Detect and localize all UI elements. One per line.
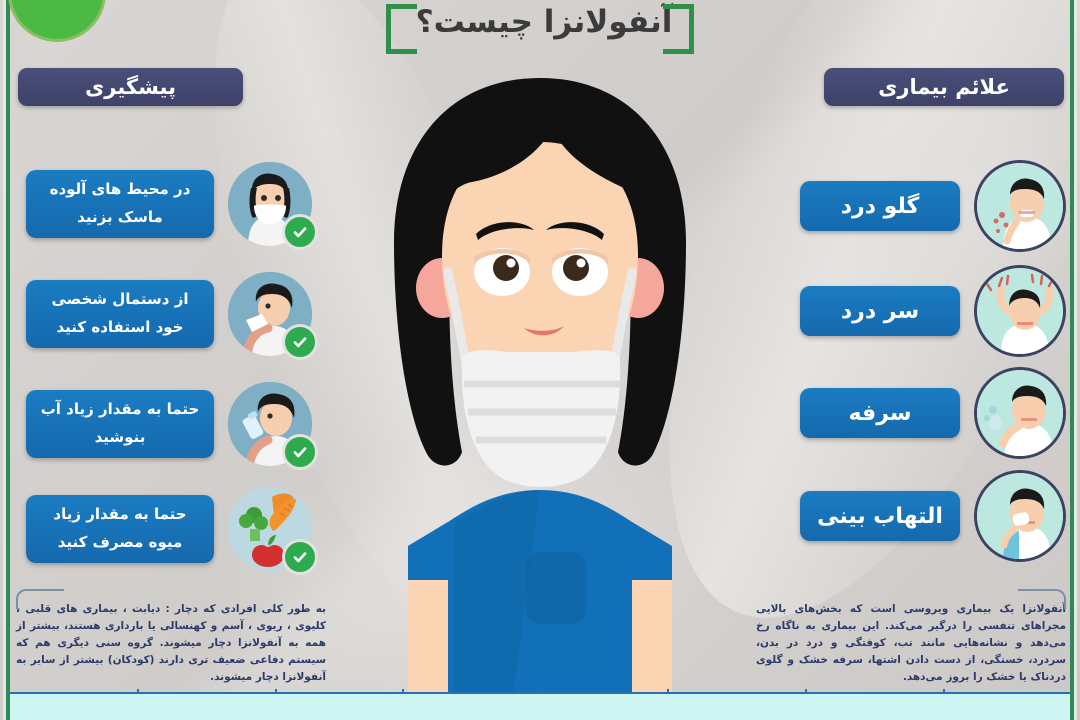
symptom-row-nasal-inflammation[interactable]: التهاب بینی — [800, 470, 1066, 562]
symptom-label-cough[interactable]: سرفه — [800, 388, 960, 438]
person-wearing-mask-icon — [228, 162, 312, 246]
symptom-label-sore-throat[interactable]: گلو درد — [800, 181, 960, 231]
risk-groups-text: به طور کلی افرادی که دچار : دیابت ، بیما… — [16, 603, 326, 683]
prevention-section-header: پیشگیری — [18, 68, 243, 106]
paragraph-corner-left — [16, 589, 64, 609]
symptom-label-headache[interactable]: سر درد — [800, 286, 960, 336]
right-green-rail — [1070, 0, 1074, 720]
symptoms-heading-label: علائم بیماری — [878, 75, 1010, 99]
person-headache-icon — [974, 265, 1066, 357]
person-drinking-water-icon — [228, 382, 312, 466]
symptom-row-headache[interactable]: سر درد — [800, 265, 1066, 357]
symptoms-section-header: علائم بیماری — [824, 68, 1064, 106]
left-green-rail — [6, 0, 10, 720]
footer-band — [10, 694, 1070, 720]
page-title: آنفولانزا چیست؟ — [416, 4, 673, 40]
symptom-row-cough[interactable]: سرفه — [800, 367, 1066, 459]
illustration-svg — [330, 60, 750, 720]
page-title-container: آنفولانزا چیست؟ — [390, 2, 691, 42]
check-icon — [282, 214, 318, 250]
symptom-row-sore-throat[interactable]: گلو درد — [800, 160, 1066, 252]
check-icon — [282, 539, 318, 575]
bracket-right-icon — [663, 4, 694, 54]
check-icon — [282, 324, 318, 360]
symptoms-description-paragraph: آنفولانزا یک بیماری ویروسی است که بخش‌ها… — [756, 601, 1066, 686]
check-icon — [282, 434, 318, 470]
girl-with-face-mask-illustration — [330, 60, 750, 720]
symptom-label-nasal-inflammation[interactable]: التهاب بینی — [800, 491, 960, 541]
person-with-tissue-icon — [228, 272, 312, 356]
prevention-label-eat-fruit[interactable]: حتما به مقدار زیاد میوه مصرف کنید — [26, 495, 214, 563]
prevention-label-personal-tissue[interactable]: از دستمال شخصی خود استفاده کنید — [26, 280, 214, 348]
infographic-poster: آنفولانزا چیست؟ علائم بیماری پیشگیری — [0, 0, 1080, 720]
prevention-row-eat-fruit[interactable]: حتما به مقدار زیاد میوه مصرف کنید — [26, 487, 312, 571]
symptoms-description-text: آنفولانزا یک بیماری ویروسی است که بخش‌ها… — [756, 603, 1066, 683]
title-bar: آنفولانزا چیست؟ — [0, 2, 1080, 56]
paragraph-corner-right — [1018, 589, 1066, 609]
person-coughing-icon — [974, 367, 1066, 459]
person-runny-nose-icon — [974, 470, 1066, 562]
risk-groups-paragraph: به طور کلی افرادی که دچار : دیابت ، بیما… — [16, 601, 326, 686]
prevention-label-drink-water[interactable]: حتما به مقدار زیاد آب بنوشید — [26, 390, 214, 458]
prevention-row-wear-mask[interactable]: در محیط های آلوده ماسک بزنید — [26, 162, 312, 246]
prevention-heading-label: پیشگیری — [85, 75, 176, 99]
prevention-row-personal-tissue[interactable]: از دستمال شخصی خود استفاده کنید — [26, 272, 312, 356]
fruits-vegetables-icon — [228, 487, 312, 571]
prevention-label-wear-mask[interactable]: در محیط های آلوده ماسک بزنید — [26, 170, 214, 238]
prevention-row-drink-water[interactable]: حتما به مقدار زیاد آب بنوشید — [26, 382, 312, 466]
bracket-left-icon — [386, 4, 417, 54]
person-sore-throat-icon — [974, 160, 1066, 252]
